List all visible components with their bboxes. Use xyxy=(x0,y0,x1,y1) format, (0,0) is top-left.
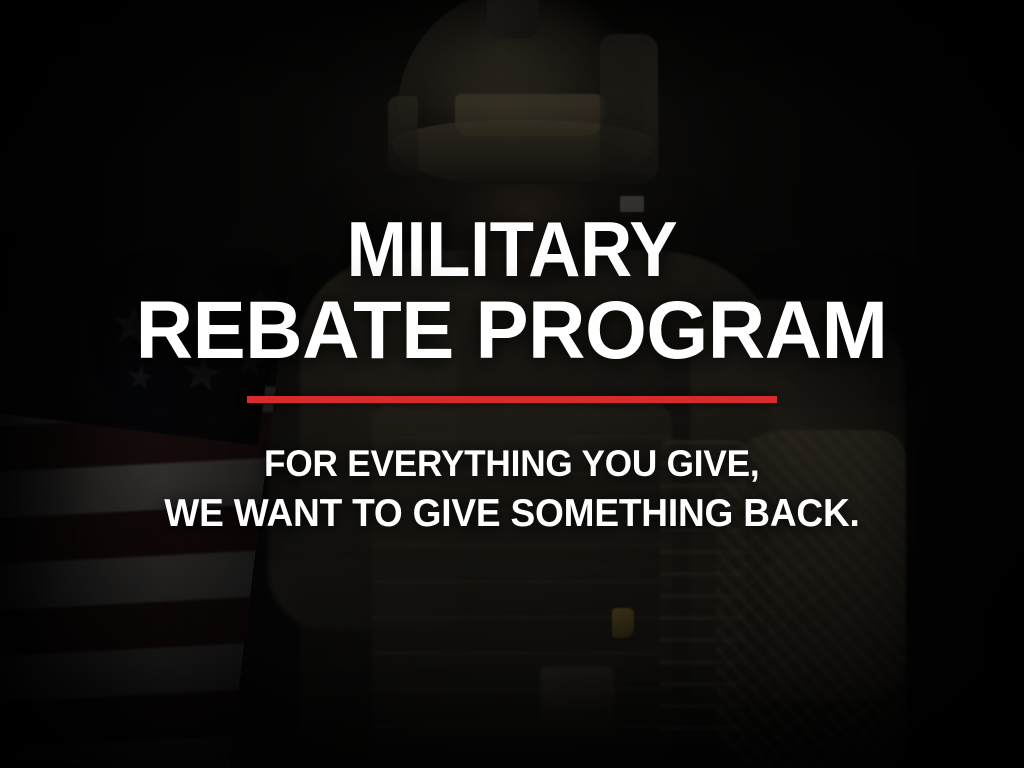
headline-line-2: REBATE PROGRAM xyxy=(136,292,888,370)
military-rebate-poster: MILITARY REBATE PROGRAM FOR EVERYTHING Y… xyxy=(0,0,1024,768)
poster-content: MILITARY REBATE PROGRAM FOR EVERYTHING Y… xyxy=(0,0,1024,768)
headline-line-1: MILITARY xyxy=(347,212,678,286)
red-divider-rule xyxy=(247,396,777,403)
subtitle-line-2: WE WANT TO GIVE SOMETHING BACK. xyxy=(164,493,859,535)
subtitle-line-1: FOR EVERYTHING YOU GIVE, xyxy=(264,444,759,484)
